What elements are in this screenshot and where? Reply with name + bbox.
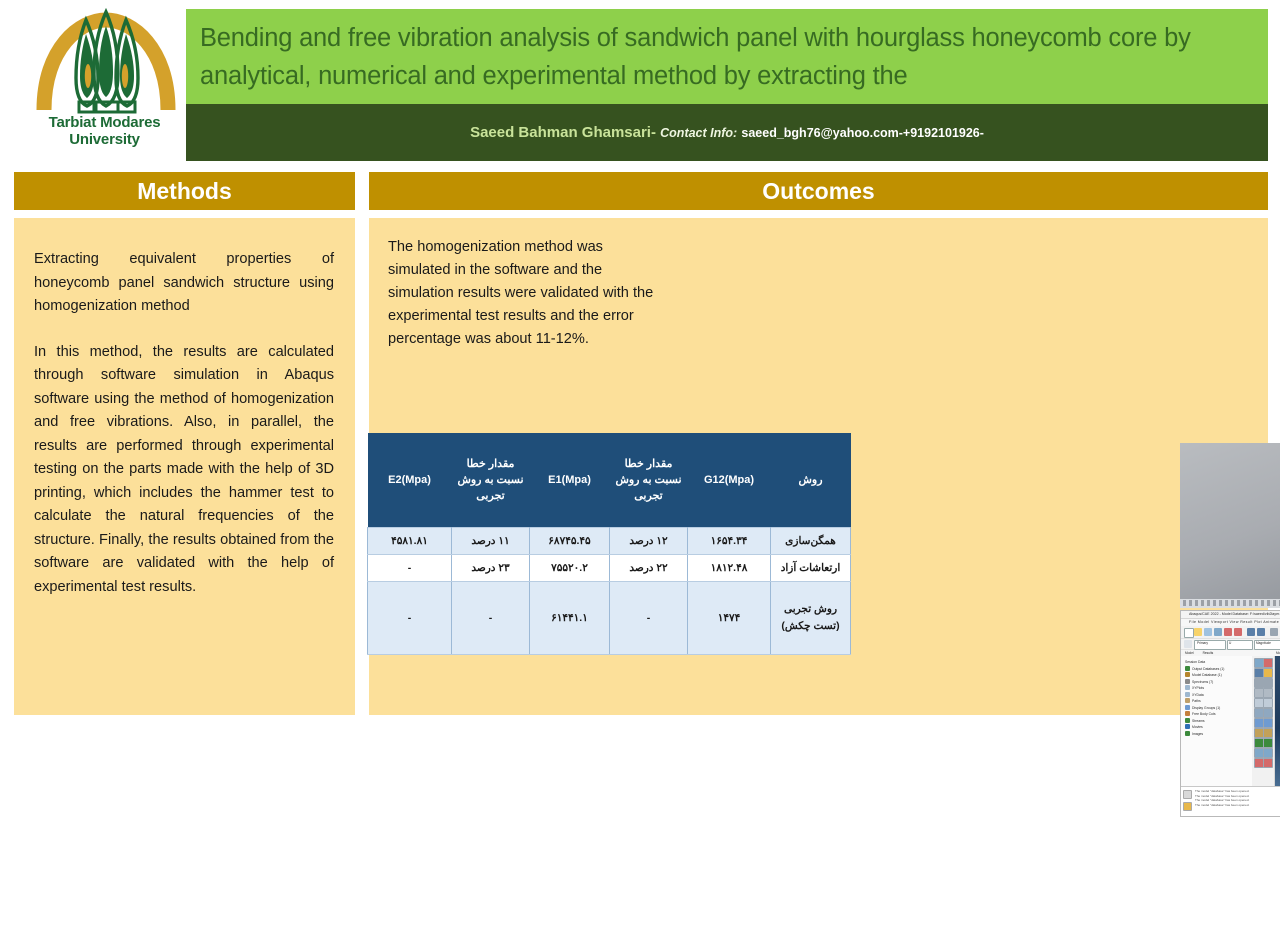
symbol-options-icon [1263,698,1273,708]
plot-deformed-icon [1263,658,1273,668]
cell-e1: ۶۸۷۴۵.۴۵ [530,528,610,555]
abaqus-model-tree[interactable]: Session Data Output Databases (1) Model … [1181,656,1256,788]
free-body-cuts-icon [1185,711,1190,716]
section-header-outcomes: Outcomes [369,172,1268,210]
poster-title: Bending and free vibration analysis of s… [200,19,1254,95]
methods-paragraph-1: Extracting equivalent properties of hone… [34,248,334,319]
cell-error-g12: ۱۲ درصد [610,528,688,555]
kernel-tab-icon[interactable] [1183,802,1192,811]
message-area-icons [1183,790,1192,814]
movies-icon [1185,724,1190,729]
col-header-error-g12: مقدار خطا نسبت به روش تجربی [610,433,688,528]
cell-e1: ۶۱۴۴۱.۱ [530,582,610,655]
primary-var-label: Primary [1197,641,1208,645]
methods-text: Extracting equivalent properties of hone… [34,248,334,599]
cell-error-e1: ۲۳ درصد [452,555,530,582]
cell-error-g12: - [610,582,688,655]
logo-mark [22,6,187,116]
abaqus-visualization-toolbox[interactable] [1252,656,1275,788]
xyplots-icon [1185,685,1190,690]
abaqus-toolbar-field[interactable]: Primary U Magnitude [1181,639,1280,650]
message-tab-icon[interactable] [1183,790,1192,799]
output-database-icon [1185,666,1190,671]
methods-panel: Extracting equivalent properties of hone… [14,218,355,715]
cell-method: روش تجربی (تست چکش) [771,582,851,655]
paths-icon [1185,698,1190,703]
cell-method: همگن‌سازی [771,528,851,555]
module-label: Module: [1276,651,1280,655]
logo-line-2: University [22,131,187,148]
images-icon [1185,731,1190,736]
display-groups-icon [1185,705,1190,710]
cell-g12: ۱۸۱۲.۴۸ [688,555,771,582]
abaqus-title-bar: Abaqus/CAE 2022 - Model Database: F:\sae… [1181,611,1280,619]
author-bar: Saeed Bahman Ghamsari- Contact Info: sae… [186,104,1268,161]
col-header-g12: G12(Mpa) [688,433,771,528]
cad-status-bar [1180,599,1280,608]
table-header-row: روش G12(Mpa) مقدار خطا نسبت به روش تجربی… [368,433,851,528]
allow-multiple-icon [1263,678,1273,688]
cell-error-e1: - [452,582,530,655]
abaqus-message-area[interactable]: The model "database" has been opened. Th… [1181,786,1280,816]
cell-method: ارتعاشات آزاد [771,555,851,582]
model-results-tabs: Model Results [1185,651,1213,655]
abaqus-menu-bar[interactable]: File Model Viewport View Result Plot Ani… [1181,619,1280,626]
author-line: Saeed Bahman Ghamsari- Contact Info: sae… [470,124,984,141]
cad-model-image: 14.50 ±0.50 50.00 ±0.50 [1180,443,1280,608]
contact-value[interactable]: saeed_bgh76@yahoo.com-+9192101926- [741,126,984,140]
abaqus-toolbar-main[interactable] [1181,626,1280,639]
results-table: روش G12(Mpa) مقدار خطا نسبت به روش تجربی… [367,433,851,655]
animation-options-icon [1263,758,1273,768]
poster-title-bar: Bending and free vibration analysis of s… [186,9,1268,104]
message-line: The model "database" has been opened. [1195,803,1280,808]
poster-header: Tarbiat Modares University Bending and f… [0,0,1280,163]
col-header-e1: E1(Mpa) [530,433,610,528]
stream-icon [1263,738,1273,748]
cell-e1: ۷۵۵۲۰.۲ [530,555,610,582]
cell-e2: ۴۵۸۱.۸۱ [368,528,452,555]
magnitude-label: Magnitude [1256,641,1271,645]
abaqus-cae-screenshot[interactable]: Abaqus/CAE 2022 - Model Database: F:\sae… [1180,610,1280,817]
abaqus-window-title: Abaqus/CAE 2022 - Model Database: F:\sae… [1189,612,1280,616]
outcomes-summary: The homogenization method was simulated … [388,236,668,351]
results-table-wrapper: روش G12(Mpa) مقدار خطا نسبت به روش تجربی… [367,433,814,655]
abaqus-viewport[interactable]: U, Magnitude +1.207e+01 +1.114e+01 +1.02… [1275,656,1280,788]
superimpose-options-icon [1263,688,1273,698]
col-header-error-e1: مقدار خطا نسبت به روش تجربی [452,433,530,528]
cad-status-text [1183,600,1280,606]
tab-results[interactable]: Results [1203,651,1214,655]
xy-options-icon [1263,708,1273,718]
model-database-icon [1185,672,1190,677]
cell-e2: - [368,555,452,582]
table-row: همگن‌سازی ۱۶۵۴.۳۴ ۱۲ درصد ۶۸۷۴۵.۴۵ ۱۱ در… [368,528,851,555]
plot-symbol-icon [1263,668,1273,678]
university-logo: Tarbiat Modares University [22,6,187,163]
cell-e2: - [368,582,452,655]
contact-label: Contact Info: [660,126,737,140]
display-group-icon [1263,748,1273,758]
abaqus-main-area: Session Data Output Databases (1) Model … [1181,656,1280,788]
tree-item[interactable]: Images [1183,731,1253,738]
cell-g12: ۱۴۷۴ [688,582,771,655]
outcomes-panel: The homogenization method was simulated … [369,218,1268,715]
streams-icon [1185,718,1190,723]
col-header-e2: E2(Mpa) [368,433,452,528]
spectrums-icon [1185,679,1190,684]
xydata-icon [1185,692,1190,697]
table-row: ارتعاشات آزاد ۱۸۱۲.۴۸ ۲۲ درصد ۷۵۵۲۰.۲ ۲۳… [368,555,851,582]
logo-text: Tarbiat Modares University [22,114,187,148]
tab-model[interactable]: Model [1185,651,1194,655]
methods-paragraph-2: In this method, the results are calculat… [34,341,334,600]
col-header-method: روش [771,433,851,528]
cell-error-g12: ۲۲ درصد [610,555,688,582]
query-icon [1263,728,1273,738]
cell-error-e1: ۱۱ درصد [452,528,530,555]
table-row: روش تجربی (تست چکش) ۱۴۷۴ - ۶۱۴۴۱.۱ - - [368,582,851,655]
primary-var-field: U [1229,641,1231,645]
logo-line-1: Tarbiat Modares [22,114,187,131]
cell-g12: ۱۶۵۴.۳۴ [688,528,771,555]
section-header-methods: Methods [14,172,355,210]
author-name: Saeed Bahman Ghamsari- [470,124,656,141]
